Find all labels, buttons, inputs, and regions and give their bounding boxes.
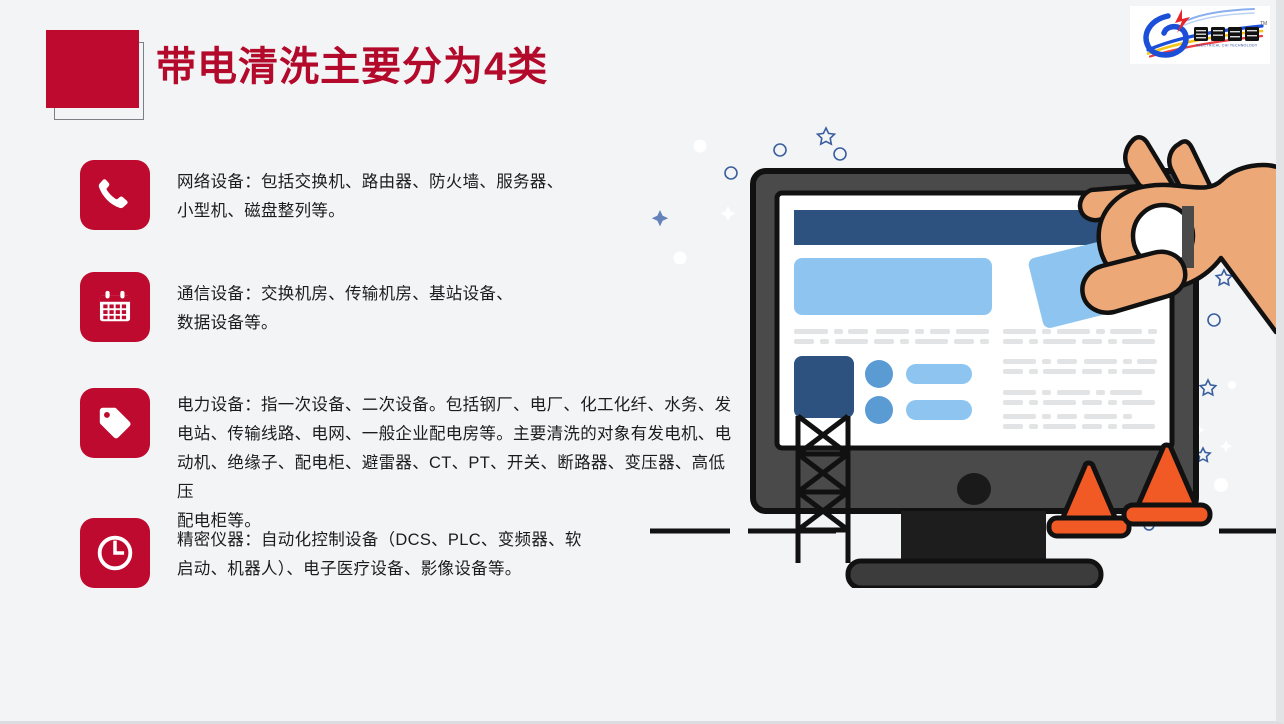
mockup-pill bbox=[906, 400, 972, 420]
list-item-text: 通信设备：交换机房、传输机房、基站设备、 数据设备等。 bbox=[177, 272, 513, 338]
list-item-line: 精密仪器：自动化控制设备（DCS、PLC、变频器、软 bbox=[177, 526, 582, 555]
mockup-hero-block bbox=[794, 258, 992, 315]
logo-english-text: ELECTRICAL CHI TECHNOLOGY bbox=[1196, 44, 1258, 48]
phone-icon-glyph bbox=[95, 175, 135, 215]
logo-trademark: TM bbox=[1260, 21, 1267, 27]
mockup-avatar-circle bbox=[865, 360, 893, 388]
clock-icon-glyph bbox=[95, 533, 135, 573]
list-item-line: 网络设备：包括交换机、路由器、防火墙、服务器、 bbox=[177, 168, 563, 197]
company-logo: TM ELECTRICAL CHI TECHNOLOGY 电驰科技 ELECTR… bbox=[1130, 6, 1270, 64]
list-item: 网络设备：包括交换机、路由器、防火墙、服务器、 小型机、磁盘整列等。 bbox=[80, 160, 563, 230]
list-item-line: 启动、机器人）、电子医疗设备、影像设备等。 bbox=[177, 555, 582, 584]
list-item-text: 网络设备：包括交换机、路由器、防火墙、服务器、 小型机、磁盘整列等。 bbox=[177, 160, 563, 226]
list-item-line: 数据设备等。 bbox=[177, 309, 513, 338]
list-item-line: 小型机、磁盘整列等。 bbox=[177, 197, 563, 226]
calendar-icon bbox=[80, 272, 150, 342]
slide-root: TM ELECTRICAL CHI TECHNOLOGY 电驰科技 ELECTR… bbox=[0, 0, 1284, 724]
logo-artwork: TM ELECTRICAL CHI TECHNOLOGY bbox=[1130, 6, 1270, 64]
illustration-artwork bbox=[636, 118, 1284, 588]
monitor-hand-tower-illustration bbox=[636, 118, 1284, 588]
list-item: 通信设备：交换机房、传输机房、基站设备、 数据设备等。 bbox=[80, 272, 513, 342]
calendar-icon-glyph bbox=[96, 288, 134, 326]
tag-icon bbox=[80, 388, 150, 458]
mockup-avatar-circle bbox=[865, 396, 893, 424]
monitor-base bbox=[848, 561, 1101, 588]
phone-icon bbox=[80, 160, 150, 230]
mockup-dark-block bbox=[794, 356, 854, 418]
title-solid-square bbox=[46, 30, 139, 108]
tag-icon-glyph bbox=[96, 404, 134, 442]
list-item: 电力设备：指一次设备、二次设备。包括钢厂、电厂、化工化纤、水务、发 电站、传输线… bbox=[80, 388, 732, 536]
page-title: 带电清洗主要分为4类 bbox=[156, 36, 548, 98]
monitor-power-button bbox=[957, 473, 991, 505]
clock-icon bbox=[80, 518, 150, 588]
mockup-pill bbox=[906, 364, 972, 384]
list-item: 精密仪器：自动化控制设备（DCS、PLC、变频器、软 启动、机器人）、电子医疗设… bbox=[80, 518, 582, 588]
list-item-text: 精密仪器：自动化控制设备（DCS、PLC、变频器、软 启动、机器人）、电子医疗设… bbox=[177, 518, 582, 584]
list-item-line: 通信设备：交换机房、传输机房、基站设备、 bbox=[177, 280, 513, 309]
